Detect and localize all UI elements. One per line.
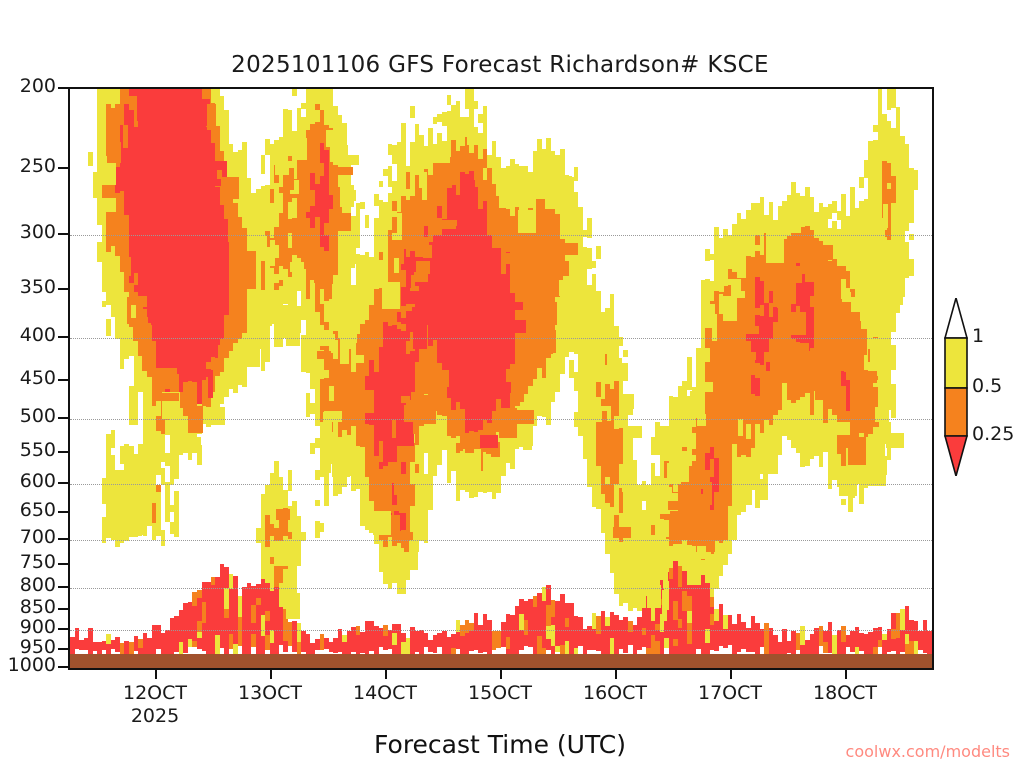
x-tick-label: 15OCT <box>440 682 560 704</box>
colorbar-level-red <box>945 436 967 476</box>
watermark: coolwx.com/modelts <box>846 742 1010 761</box>
colorbar-svg <box>944 298 968 476</box>
y-tick-mark <box>58 563 68 565</box>
y-tick-mark <box>58 608 68 610</box>
x-tick-mark <box>615 670 617 679</box>
x-tick-label: 18OCT <box>785 682 905 704</box>
x-tick-mark <box>270 670 272 679</box>
y-tick-mark <box>58 288 68 290</box>
x-tick-mark <box>730 670 732 679</box>
colorbar-level-above-1 <box>945 298 967 338</box>
y-tick-label: 350 <box>0 276 56 298</box>
colorbar <box>944 298 968 476</box>
y-tick-mark <box>58 628 68 630</box>
richardson-heatmap <box>70 89 932 668</box>
y-tick-label: 500 <box>0 405 56 427</box>
y-tick-label: 750 <box>0 551 56 573</box>
x-tick-mark <box>155 670 157 679</box>
y-tick-label: 200 <box>0 75 56 97</box>
y-tick-mark <box>58 336 68 338</box>
y-tick-mark <box>58 586 68 588</box>
y-tick-label: 250 <box>0 155 56 177</box>
x-tick-label: 14OCT <box>325 682 445 704</box>
colorbar-tick-label: 0.25 <box>972 423 1014 445</box>
y-tick-label: 600 <box>0 470 56 492</box>
x-tick-label: 16OCT <box>555 682 675 704</box>
colorbar-level-orange <box>945 388 967 436</box>
chart-page: 2025101106 GFS Forecast Richardson# KSCE… <box>0 0 1024 768</box>
y-tick-mark <box>58 511 68 513</box>
x-tick-mark <box>845 670 847 679</box>
y-tick-mark <box>58 538 68 540</box>
page-title: 2025101106 GFS Forecast Richardson# KSCE <box>0 52 1000 78</box>
ground-band <box>70 654 932 668</box>
y-tick-mark <box>58 417 68 419</box>
y-tick-label: 700 <box>0 526 56 548</box>
x-axis-year-label: 2025 <box>95 705 215 727</box>
x-tick-label: 17OCT <box>670 682 790 704</box>
y-tick-mark <box>58 87 68 89</box>
x-tick-mark <box>385 670 387 679</box>
x-tick-label: 12OCT <box>95 682 215 704</box>
plot-area <box>68 87 934 670</box>
y-tick-mark <box>58 233 68 235</box>
colorbar-tick-label: 0.5 <box>972 375 1002 397</box>
colorbar-tick-label: 1 <box>972 325 984 347</box>
x-tick-mark <box>500 670 502 679</box>
y-tick-label: 550 <box>0 439 56 461</box>
y-tick-mark <box>58 379 68 381</box>
y-tick-mark <box>58 451 68 453</box>
y-tick-label: 650 <box>0 499 56 521</box>
y-tick-label: 400 <box>0 324 56 346</box>
y-tick-label: 850 <box>0 596 56 618</box>
y-tick-label: 800 <box>0 574 56 596</box>
y-tick-mark <box>58 482 68 484</box>
colorbar-level-yellow <box>945 338 967 388</box>
y-tick-mark <box>58 666 68 668</box>
y-tick-mark <box>58 167 68 169</box>
y-tick-label: 450 <box>0 367 56 389</box>
x-tick-label: 13OCT <box>210 682 330 704</box>
y-tick-label: 1000 <box>0 654 56 676</box>
y-tick-label: 300 <box>0 221 56 243</box>
y-tick-mark <box>58 648 68 650</box>
